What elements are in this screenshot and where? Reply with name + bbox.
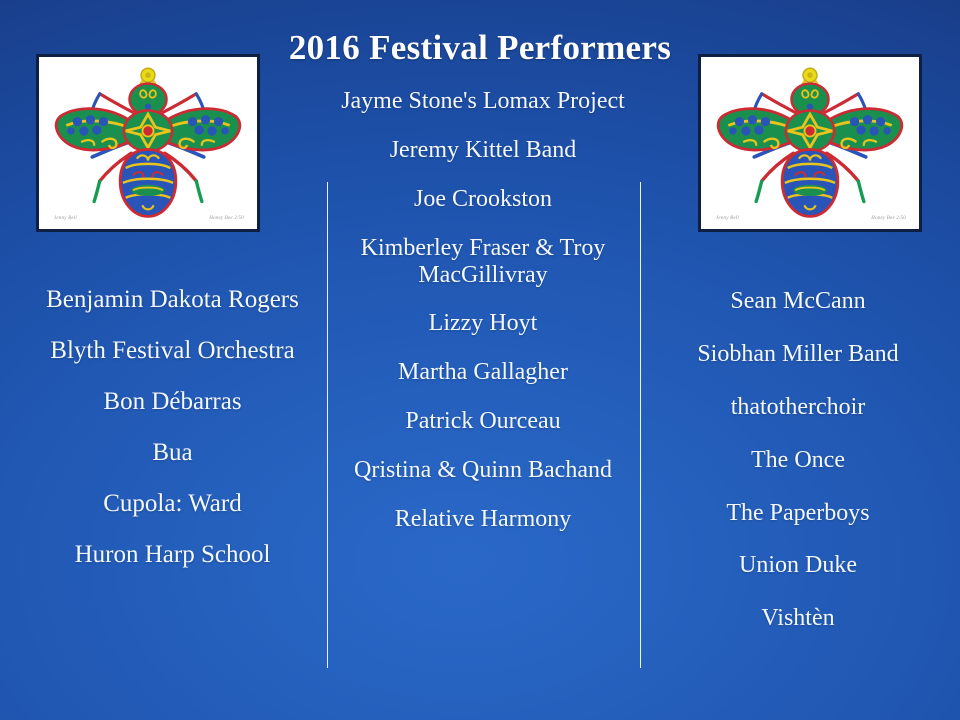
performer-name: The Paperboys: [648, 500, 948, 527]
performer-name: Benjamin Dakota Rogers: [20, 286, 325, 314]
performer-name: Vishtèn: [648, 605, 948, 632]
performer-name: Sean McCann: [648, 288, 948, 315]
bee-artwork-left: Jenny Bell Honey Bee 2/50: [36, 54, 260, 232]
bee-icon: [706, 62, 914, 224]
performer-name: Kimberley Fraser & Troy MacGillivray: [333, 235, 633, 289]
performer-name: Blyth Festival Orchestra: [20, 337, 325, 365]
artwork-edition-right: Honey Bee 2/50: [871, 216, 906, 221]
performer-name: Relative Harmony: [333, 506, 633, 533]
performer-name: thatotherchoir: [648, 394, 948, 421]
performer-name: Union Duke: [648, 552, 948, 579]
performer-name: Qristina & Quinn Bachand: [333, 457, 633, 484]
performer-name: Jayme Stone's Lomax Project: [333, 88, 633, 115]
performer-name: Siobhan Miller Band: [648, 341, 948, 368]
performer-name: Patrick Ourceau: [333, 408, 633, 435]
column-divider-right: [640, 182, 641, 668]
bee-artwork-right: Jenny Bell Honey Bee 2/50: [698, 54, 922, 232]
bee-illustration-canvas-left: Jenny Bell Honey Bee 2/50: [44, 62, 252, 224]
performer-name: Huron Harp School: [20, 541, 325, 569]
artwork-signature-left: Jenny Bell: [54, 216, 77, 221]
performer-name: The Once: [648, 447, 948, 474]
performer-name: Martha Gallagher: [333, 359, 633, 386]
performer-name: Bua: [20, 439, 325, 467]
performer-name: Jeremy Kittel Band: [333, 137, 633, 164]
column-divider-left: [327, 182, 328, 668]
performer-column-middle: Jayme Stone's Lomax Project Jeremy Kitte…: [333, 88, 633, 555]
bee-illustration-canvas-right: Jenny Bell Honey Bee 2/50: [706, 62, 914, 224]
performer-column-right: Sean McCann Siobhan Miller Band thatothe…: [648, 288, 948, 658]
performer-name: Cupola: Ward: [20, 490, 325, 518]
bee-icon: [44, 62, 252, 224]
festival-performers-slide: 2016 Festival Performers: [0, 0, 960, 720]
artwork-edition-left: Honey Bee 2/50: [209, 216, 244, 221]
artwork-signature-right: Jenny Bell: [716, 216, 739, 221]
performer-column-left: Benjamin Dakota Rogers Blyth Festival Or…: [20, 286, 325, 592]
performer-name: Lizzy Hoyt: [333, 310, 633, 337]
performer-name: Joe Crookston: [333, 186, 633, 213]
performer-name: Bon Débarras: [20, 388, 325, 416]
